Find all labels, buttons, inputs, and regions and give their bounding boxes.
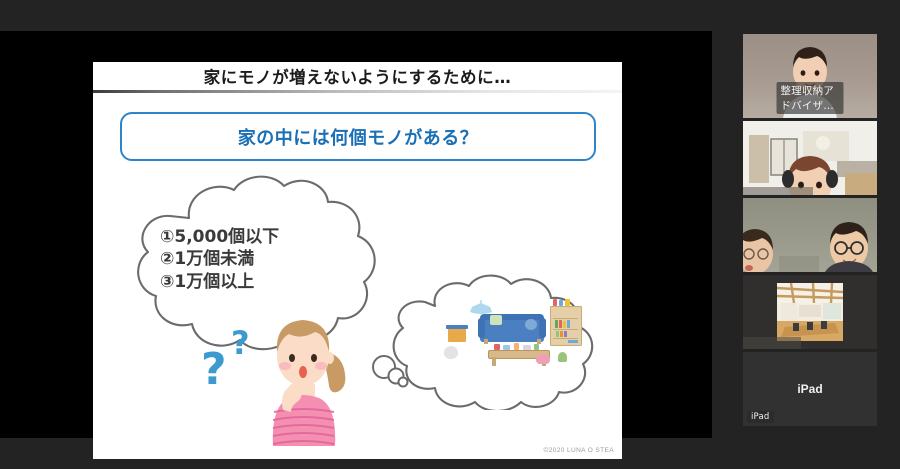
copyright-notice: ©2020 LUNA O STEA	[544, 447, 614, 454]
slide-header: 家にモノが増えないようにするために…	[93, 62, 622, 89]
bag-icon	[444, 346, 458, 359]
participant-tile-5[interactable]: iPad iPad	[743, 352, 877, 426]
participant-name-5: iPad	[747, 411, 774, 423]
storage-box-lid	[446, 325, 468, 329]
table-leg-left	[492, 357, 496, 366]
room-photo	[777, 283, 843, 341]
slide-title: 家にモノが増えないようにするために…	[93, 64, 622, 88]
participant-tile-3[interactable]	[743, 198, 877, 272]
participant-name-1: 整理収納アドバイザ…	[777, 82, 844, 114]
answer-option-2: ②1万個未満	[160, 248, 370, 270]
cushion-blue	[525, 319, 537, 330]
question-mark-small: ?	[231, 324, 250, 362]
room-illustration	[440, 298, 580, 384]
participant-tile-2[interactable]	[743, 121, 877, 195]
question-box: 家の中には何個モノがある？	[120, 112, 596, 161]
sofa-arm-left	[478, 318, 485, 338]
cushion-green	[490, 315, 502, 325]
storage-box	[448, 328, 466, 342]
participant-video-2	[743, 121, 877, 195]
participant-video-4	[743, 275, 877, 349]
participant-tile-4[interactable]	[743, 275, 877, 349]
answer-option-1: ①5,000個以下	[160, 226, 370, 248]
plant-icon	[558, 352, 567, 362]
bookshelf	[550, 306, 582, 346]
sofa-arm-right	[539, 318, 546, 338]
room-thought-bubble	[385, 270, 622, 410]
woman-figure	[243, 300, 363, 450]
shared-screen-stage: 家にモノが増えないようにするために… 家の中には何個モノがある？ ①5,000個…	[0, 31, 712, 438]
participant-filmstrip: 整理収納アドバイザ…	[743, 34, 877, 436]
answer-list: ①5,000個以下 ②1万個未満 ③1万個以上	[160, 226, 370, 293]
sofa-leg-left	[484, 339, 488, 344]
answer-option-3: ③1万個以上	[160, 271, 370, 293]
question-box-text: 家の中には何個モノがある？	[238, 124, 479, 150]
toy-icon	[536, 354, 550, 364]
participant-tile-1[interactable]: 整理収納アドバイザ…	[743, 34, 877, 118]
question-mark-large: ?	[201, 344, 227, 395]
title-divider	[93, 90, 622, 93]
zoom-meeting-window: 家にモノが増えないようにするために… 家の中には何個モノがある？ ①5,000個…	[0, 0, 900, 469]
presentation-slide: 家にモノが増えないようにするために… 家の中には何個モノがある？ ①5,000個…	[93, 62, 622, 459]
thinking-woman-illustration: ? ?	[243, 300, 363, 450]
participant-video-3	[743, 198, 877, 272]
